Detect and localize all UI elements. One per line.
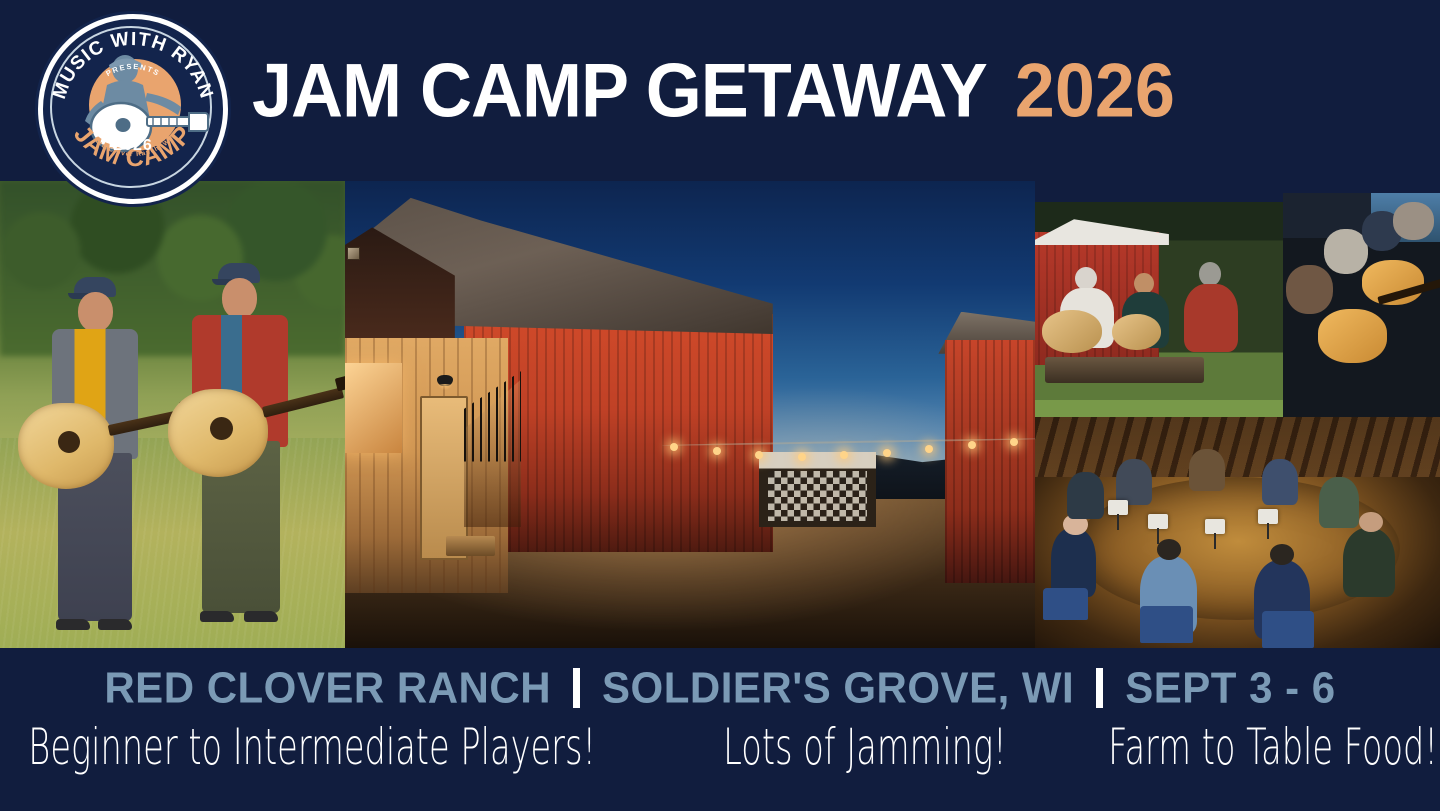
outdoor-bench <box>1045 357 1204 383</box>
footer-separator-2 <box>1096 668 1103 708</box>
logo-presents-text: PRESENTS <box>104 62 161 78</box>
logo-year: 2026 <box>43 137 223 155</box>
circle-head-3 <box>1270 544 1294 565</box>
string-lights <box>662 424 1035 489</box>
chair-2 <box>1262 611 1315 648</box>
photo-jam-circle <box>1035 417 1440 648</box>
poster-header: MUSIC WITH RYAN PRESENTS JAM CAMP Red Cl… <box>0 0 1440 181</box>
circle-player-4 <box>1343 528 1396 597</box>
circle-player-8 <box>1116 459 1152 505</box>
photo-musicians-field <box>0 181 345 648</box>
player-head-1 <box>1075 267 1097 291</box>
chair-3 <box>1043 588 1088 620</box>
footer-location-line: RED CLOVER RANCH SOLDIER'S GROVE, WI SEP… <box>0 664 1440 712</box>
music-stand-3 <box>1258 509 1278 524</box>
row-head-1 <box>1286 265 1333 314</box>
photo-barn-twilight <box>345 181 1035 648</box>
circle-player-7 <box>1189 449 1225 491</box>
row-head-4 <box>1393 202 1434 240</box>
main-barn <box>345 190 773 601</box>
gable-window <box>347 247 360 260</box>
footer-venue: RED CLOVER RANCH <box>104 663 551 713</box>
circle-player-1 <box>1051 528 1096 597</box>
barn-porch-window <box>345 363 402 453</box>
music-stand-2 <box>1205 519 1225 534</box>
music-stand-1 <box>1148 514 1168 529</box>
jam-camp-poster: MUSIC WITH RYAN PRESENTS JAM CAMP Red Cl… <box>0 0 1440 811</box>
music-stand-4 <box>1108 500 1128 515</box>
barn-wall-lamp <box>437 375 453 386</box>
page-title: JAM CAMP GETAWAY <box>252 52 987 128</box>
musician-right <box>170 263 330 635</box>
player-guitar-1 <box>1042 310 1102 353</box>
photo-players-row <box>1283 193 1440 417</box>
player-head-3 <box>1199 262 1221 286</box>
barn-bench <box>446 536 495 557</box>
circle-player-5 <box>1319 477 1360 528</box>
footer-tagline-line: Beginner to Intermediate Players! Lots o… <box>0 728 1440 776</box>
footer-dates: SEPT 3 - 6 <box>1125 663 1335 713</box>
logo-badge: MUSIC WITH RYAN PRESENTS JAM CAMP Red Cl… <box>38 14 228 204</box>
barn-loft-rafters <box>1035 417 1440 477</box>
player-body-3 <box>1184 284 1239 353</box>
poster-footer: RED CLOVER RANCH SOLDIER'S GROVE, WI SEP… <box>0 648 1440 811</box>
photo-collage <box>0 181 1440 648</box>
outdoor-barn-roof <box>1035 219 1169 245</box>
tagline-jamming: Lots of Jamming! <box>723 717 1007 776</box>
tagline-food: Farm to Table Food! <box>1108 717 1438 776</box>
player-guitar-2 <box>1112 314 1162 351</box>
tagline-skill-level: Beginner to Intermediate Players! <box>28 717 596 776</box>
footer-separator-1 <box>573 668 580 708</box>
row-head-2 <box>1324 229 1368 274</box>
logo-arc-text: MUSIC WITH RYAN PRESENTS JAM CAMP Red Cl… <box>43 19 223 199</box>
photo-jam-outdoor <box>1035 202 1283 417</box>
circle-head-2 <box>1157 539 1181 560</box>
chair-1 <box>1140 606 1193 643</box>
header-title-row: JAM CAMP GETAWAY 2026 <box>252 0 1175 181</box>
row-guitar-2 <box>1318 309 1387 363</box>
musician-left <box>22 277 172 637</box>
page-title-year: 2026 <box>1015 52 1175 128</box>
circle-player-9 <box>1067 472 1103 518</box>
footer-city: SOLDIER'S GROVE, WI <box>602 663 1074 713</box>
circle-player-6 <box>1262 459 1298 505</box>
